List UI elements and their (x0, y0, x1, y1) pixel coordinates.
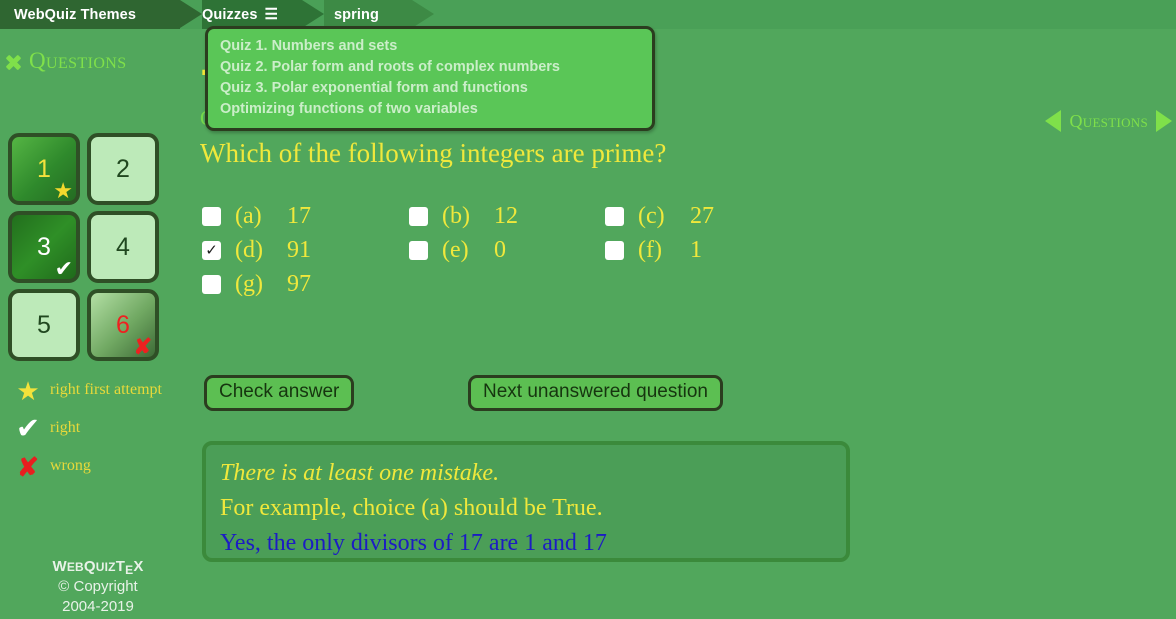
choice-a-value: 17 (287, 203, 311, 230)
question-nav: Questions (1045, 110, 1172, 132)
hamburger-icon[interactable]: ☰ (265, 7, 279, 22)
choice-c-value: 27 (690, 203, 714, 230)
checkbox-d[interactable]: ✓ (202, 241, 221, 260)
choice-row-3: (g) 97 (202, 271, 822, 298)
logo-t: T (116, 558, 125, 575)
choice-e-value: 0 (494, 237, 506, 264)
star-icon: ★ (53, 180, 73, 202)
choice-g[interactable]: (g) 97 (202, 271, 409, 298)
legend-label-check: right (50, 416, 80, 437)
dropdown-item-quiz3[interactable]: Quiz 3. Polar exponential form and funct… (220, 78, 642, 99)
webquiztex-logo: WEBQUIZTEX (0, 557, 196, 577)
breadcrumb-label-spring: spring (334, 7, 379, 23)
dropdown-item-quiz1[interactable]: Quiz 1. Numbers and sets (220, 36, 642, 57)
feedback-panel: There is at least one mistake. For examp… (202, 441, 850, 562)
sidebar: Questions 1 ★ 2 3 ✔ 4 5 6 ✘ ★ right firs… (0, 0, 196, 619)
logo-e: E (125, 560, 133, 580)
question-button-3-number: 3 (37, 233, 51, 262)
legend-label-cross: wrong (50, 454, 91, 475)
legend-row-check: ✔ right (6, 416, 196, 442)
question-button-2[interactable]: 2 (87, 133, 159, 205)
question-button-2-number: 2 (116, 155, 130, 184)
question-button-5-number: 5 (37, 311, 51, 340)
checkbox-a[interactable] (202, 207, 221, 226)
choice-list: (a) 17 (b) 12 (c) 27 ✓ (d) 91 (e) (202, 203, 822, 305)
question-button-1-number: 1 (37, 155, 51, 184)
legend-check-icon: ✔ (6, 416, 50, 442)
question-button-1[interactable]: 1 ★ (8, 133, 80, 205)
checkbox-g[interactable] (202, 275, 221, 294)
legend-label-star: right first attempt (50, 378, 162, 399)
breadcrumb-arrow-1 (180, 0, 202, 28)
breadcrumb-nav: WebQuiz Themes Quizzes ☰ spring (0, 0, 1176, 29)
question-button-4[interactable]: 4 (87, 211, 159, 283)
question-button-3[interactable]: 3 ✔ (8, 211, 80, 283)
question-button-grid: 1 ★ 2 3 ✔ 4 5 6 ✘ (8, 133, 168, 361)
choice-row-2: ✓ (d) 91 (e) 0 (f) 1 (202, 237, 822, 264)
choice-g-letter: (g) (235, 271, 281, 298)
breadcrumb-item-spring[interactable]: spring (324, 0, 412, 29)
next-unanswered-question-button[interactable]: Next unanswered question (468, 375, 723, 411)
legend-row-cross: ✘ wrong (6, 454, 196, 480)
close-x-icon[interactable] (4, 53, 22, 71)
choice-c-letter: (c) (638, 203, 684, 230)
footer-years: 2004-2019 (0, 597, 196, 617)
breadcrumb-label-quizzes: Quizzes (202, 7, 258, 23)
checkbox-f[interactable] (605, 241, 624, 260)
feedback-mistake: There is at least one mistake. (220, 456, 832, 491)
question-button-5[interactable]: 5 (8, 289, 80, 361)
choice-f[interactable]: (f) 1 (605, 237, 805, 264)
logo-uiz: UIZ (96, 560, 116, 574)
breadcrumb-item-quizzes[interactable]: Quizzes ☰ (202, 0, 302, 29)
legend-row-star: ★ right first attempt (6, 378, 196, 404)
question-text: Which of the following integers are prim… (200, 138, 666, 169)
legend: ★ right first attempt ✔ right ✘ wrong (6, 378, 196, 492)
dropdown-item-quiz2[interactable]: Quiz 2. Polar form and roots of complex … (220, 57, 642, 78)
choice-e-letter: (e) (442, 237, 488, 264)
question-button-4-number: 4 (116, 233, 130, 262)
sidebar-questions-label: Questions (29, 48, 127, 74)
choice-b-value: 12 (494, 203, 518, 230)
triangle-left-icon[interactable] (1045, 110, 1061, 132)
legend-star-icon: ★ (6, 378, 50, 404)
choice-f-value: 1 (690, 237, 702, 264)
sidebar-questions-heading[interactable]: Questions (4, 48, 127, 74)
check-icon: ✔ (55, 258, 73, 280)
footer-copyright: © Copyright (0, 577, 196, 597)
checkbox-b[interactable] (409, 207, 428, 226)
choice-row-1: (a) 17 (b) 12 (c) 27 (202, 203, 822, 230)
checkbox-c[interactable] (605, 207, 624, 226)
choice-d[interactable]: ✓ (d) 91 (202, 237, 409, 264)
choice-d-letter: (d) (235, 237, 281, 264)
breadcrumb-arrow-3 (412, 0, 434, 28)
checkbox-e[interactable] (409, 241, 428, 260)
choice-a-letter: (a) (235, 203, 281, 230)
legend-cross-icon: ✘ (6, 454, 50, 480)
logo-w: W (52, 558, 66, 575)
choice-g-value: 97 (287, 271, 311, 298)
choice-f-letter: (f) (638, 237, 684, 264)
breadcrumb-label-themes: WebQuiz Themes (14, 7, 136, 23)
dropdown-item-optimizing[interactable]: Optimizing functions of two variables (220, 99, 642, 120)
breadcrumb-item-themes[interactable]: WebQuiz Themes (0, 0, 180, 29)
choice-e[interactable]: (e) 0 (409, 237, 605, 264)
logo-x: X (133, 558, 143, 575)
cross-icon: ✘ (134, 336, 152, 358)
triangle-right-icon[interactable] (1156, 110, 1172, 132)
choice-d-value: 91 (287, 237, 311, 264)
check-answer-button[interactable]: Check answer (204, 375, 354, 411)
feedback-reason: Yes, the only divisors of 17 are 1 and 1… (220, 526, 832, 561)
quizzes-dropdown-menu: Quiz 1. Numbers and sets Quiz 2. Polar f… (205, 26, 655, 131)
question-nav-label[interactable]: Questions (1069, 111, 1148, 132)
choice-a[interactable]: (a) 17 (202, 203, 409, 230)
sidebar-footer: WEBQUIZTEX © Copyright 2004-2019 (0, 557, 196, 617)
choice-b-letter: (b) (442, 203, 488, 230)
feedback-example: For example, choice (a) should be True. (220, 491, 832, 526)
choice-c[interactable]: (c) 27 (605, 203, 805, 230)
logo-q: Q (84, 558, 96, 575)
question-button-6[interactable]: 6 ✘ (87, 289, 159, 361)
breadcrumb-arrow-2 (302, 0, 324, 28)
question-button-6-number: 6 (116, 311, 130, 340)
choice-b[interactable]: (b) 12 (409, 203, 605, 230)
logo-eb: EB (67, 560, 84, 574)
